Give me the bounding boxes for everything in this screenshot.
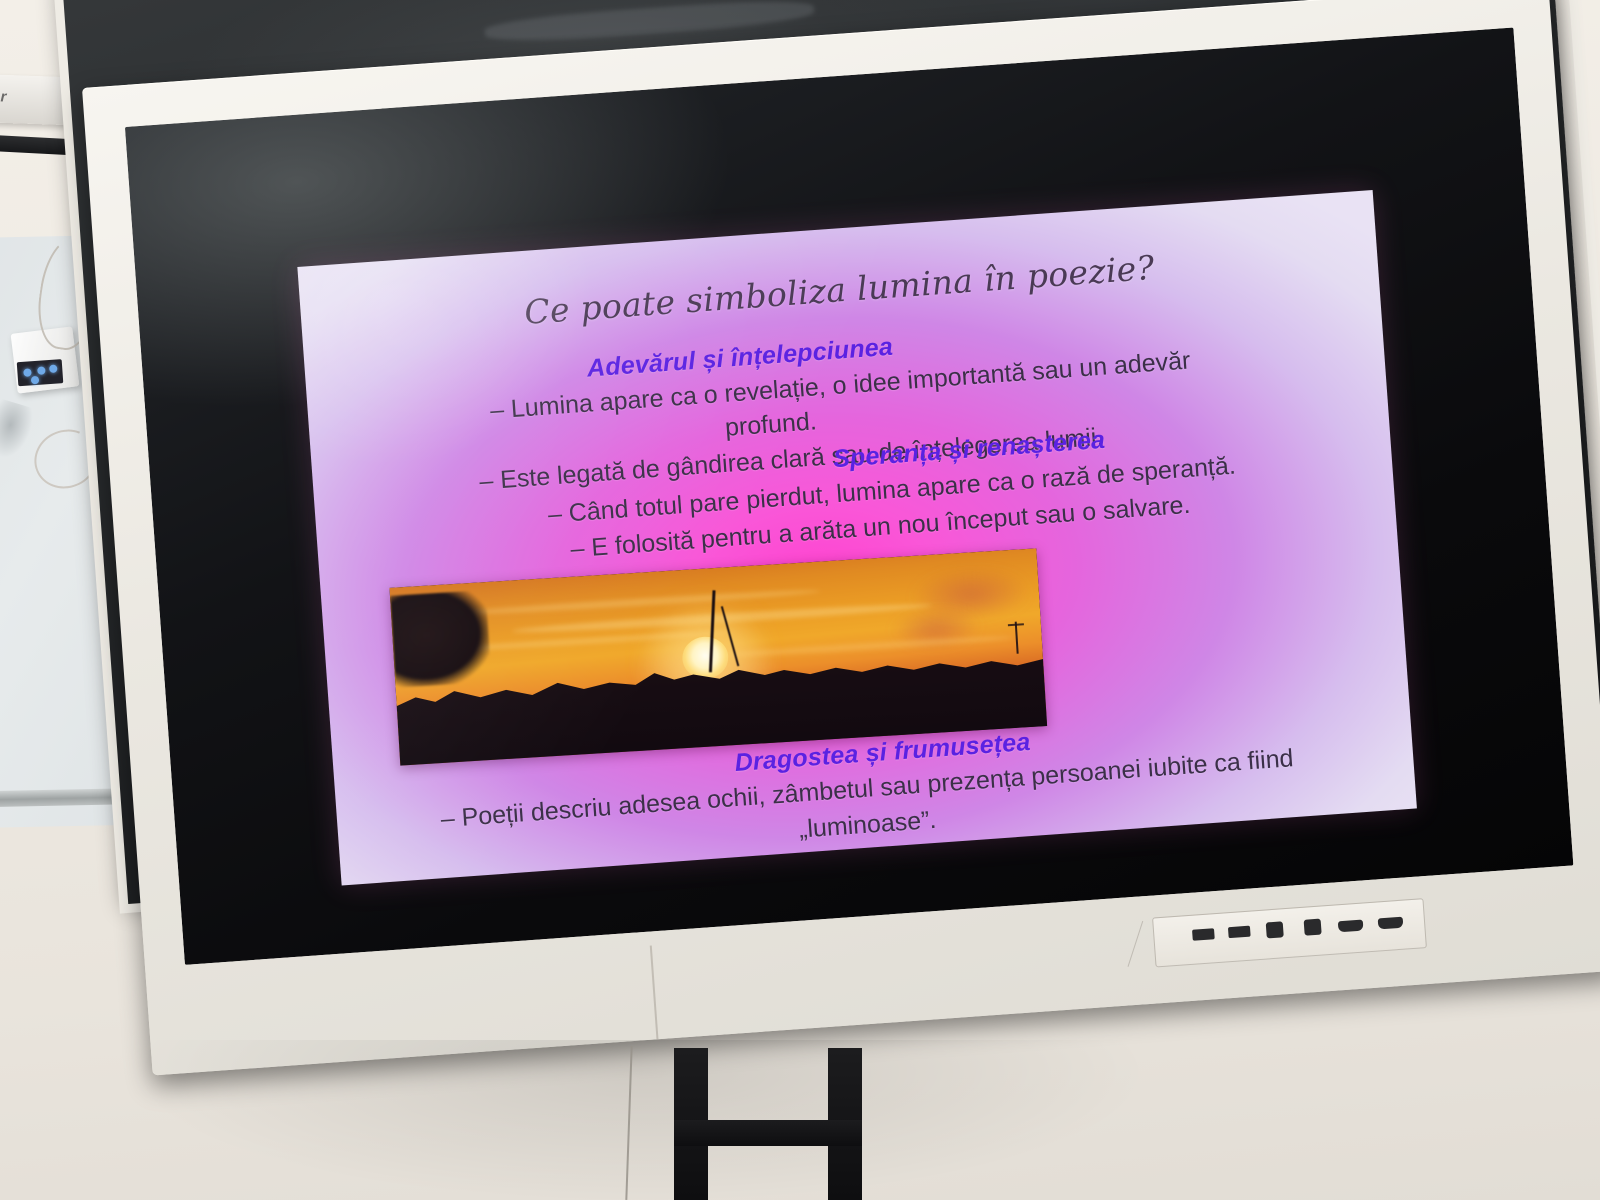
control-led [49,364,58,373]
touch-usb-b-port[interactable] [1304,919,1322,936]
foreground-bush [390,590,491,688]
touch-usb-b-port[interactable] [1266,921,1284,938]
projector-brand-label: acer [0,87,7,105]
presentation-slide[interactable]: Ce poate simboliza lumina în poezie? Ade… [297,190,1417,885]
hdmi-port[interactable] [1378,917,1404,930]
stand-crossbar [674,1120,862,1146]
whiteboard-smudge [0,397,37,463]
interactive-flat-panel[interactable]: Ce poate simboliza lumina în poezie? Ade… [82,0,1600,1075]
control-box-button-panel[interactable] [17,359,64,386]
usb-port[interactable] [1192,928,1215,941]
display-floor-stand [632,1048,932,1200]
usb-port[interactable] [1228,926,1251,939]
classroom-photo-scene: acer K DC AP pa drs on read M 02 7 Ce po… [0,0,1600,1200]
control-led [37,366,46,375]
hdmi-port[interactable] [1338,920,1364,933]
panel-screen[interactable]: Ce poate simboliza lumina în poezie? Ade… [125,28,1573,965]
control-led [23,368,32,377]
control-led [31,376,40,385]
